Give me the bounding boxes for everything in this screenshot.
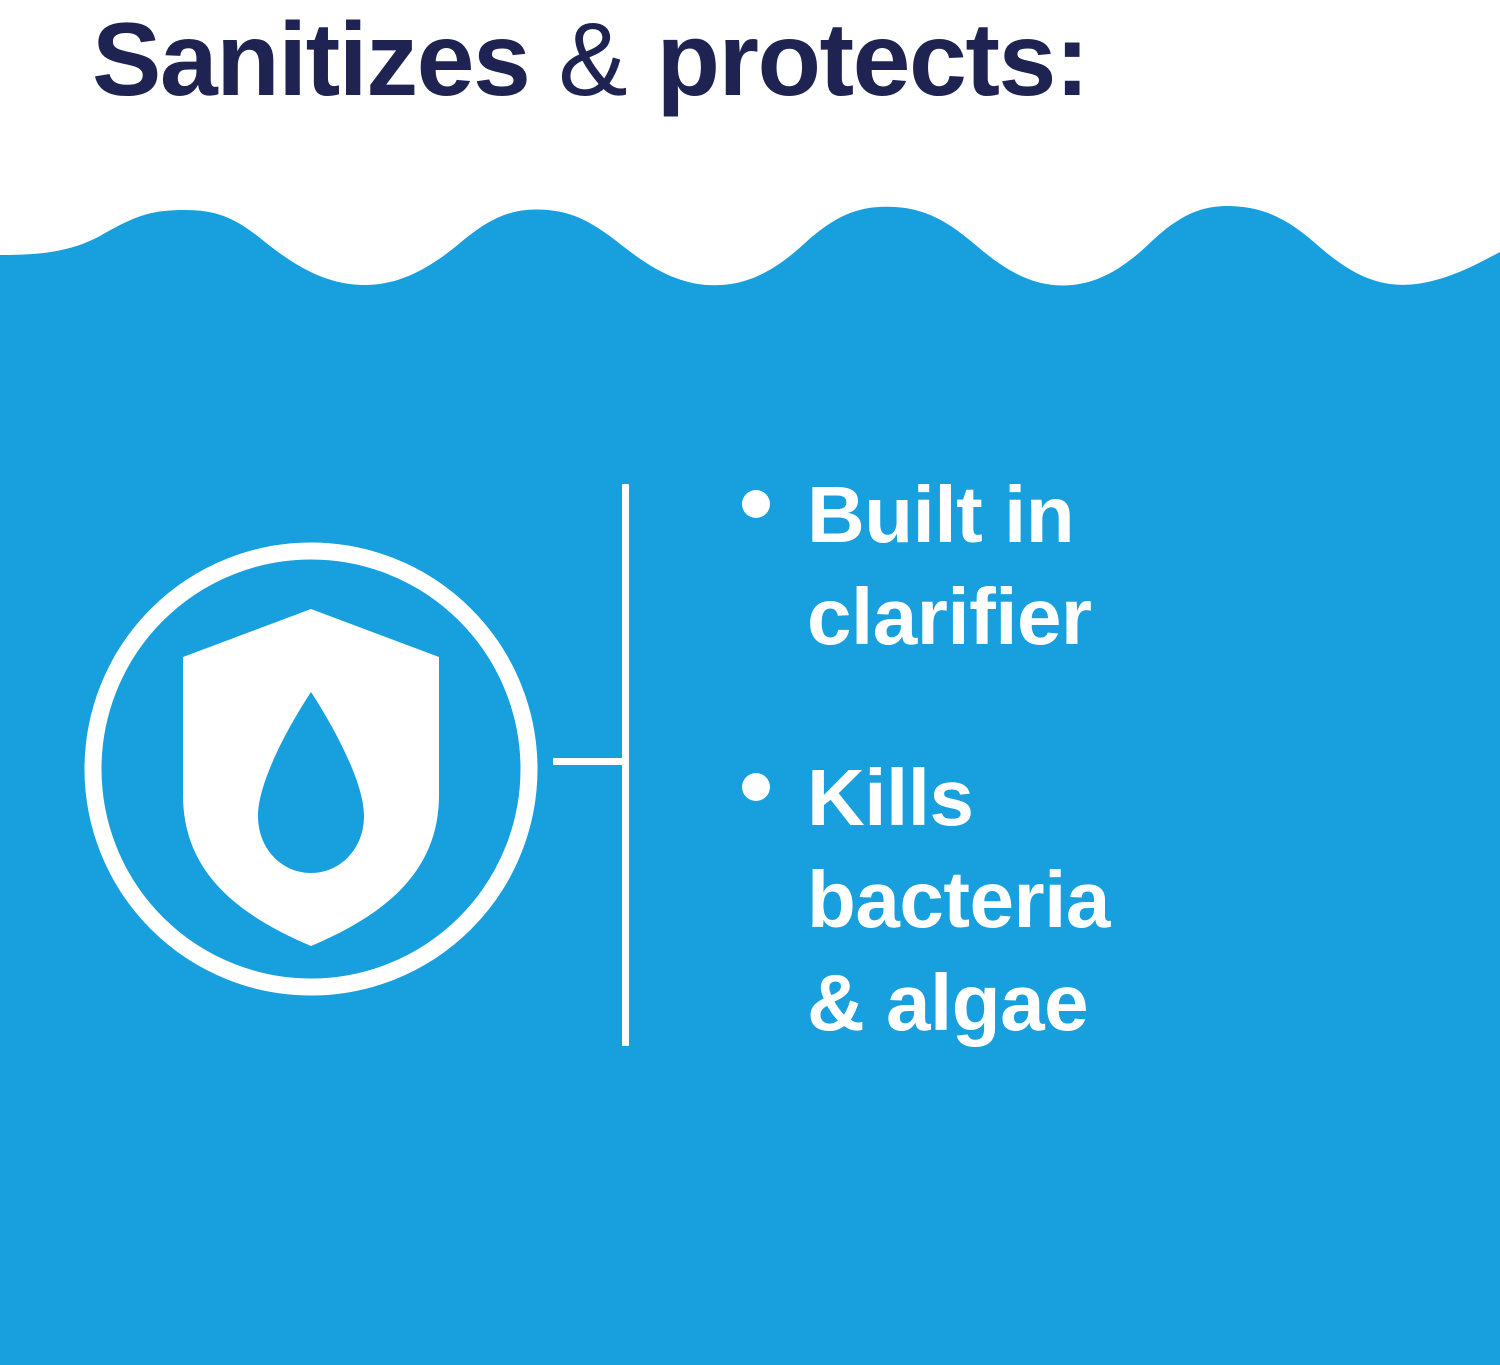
list-item: Kills bacteria & algae [735,747,1375,1054]
shield-water-drop-icon [78,536,544,1002]
bullet-icon [742,773,770,801]
bullet-icon [742,490,770,518]
divider [548,470,638,1060]
benefit-label: Kills bacteria & algae [807,747,1157,1054]
vertical-divider-line [622,484,629,1046]
horizontal-connector-line [553,758,629,765]
benefits-list: Built in clarifier Kills bacteria & alga… [735,464,1375,1054]
benefit-label: Built in clarifier [807,464,1157,669]
content-layer: Built in clarifier Kills bacteria & alga… [0,0,1500,1365]
product-feature-panel: Sanitizes & protects: Built in c [0,0,1500,1365]
list-item: Built in clarifier [735,464,1375,669]
shield-shape [183,609,439,946]
